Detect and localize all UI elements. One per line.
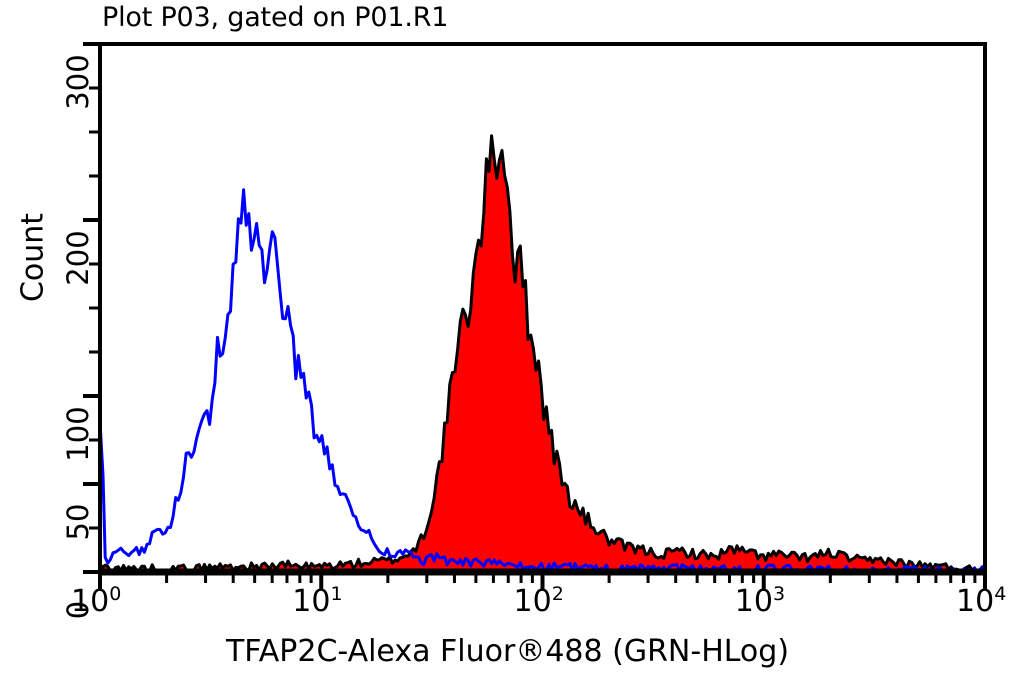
- x-tick-base: 10: [514, 584, 552, 619]
- x-tick-exponent: 3: [773, 583, 785, 605]
- y-tick-label: 300: [61, 43, 95, 121]
- x-tick-label: 101: [292, 584, 342, 619]
- x-tick-exponent: 1: [330, 583, 342, 605]
- x-tick-label: 100: [71, 584, 121, 619]
- x-tick-base: 10: [956, 584, 994, 619]
- flow-cytometry-figure: Plot P03, gated on P01.R1 Proteintech 14…: [0, 0, 1015, 683]
- y-tick-label: 100: [61, 395, 95, 473]
- x-tick-base: 10: [735, 584, 773, 619]
- x-tick-exponent: 4: [994, 583, 1006, 605]
- x-tick-label: 103: [735, 584, 785, 619]
- x-tick-base: 10: [71, 584, 109, 619]
- x-tick-base: 10: [292, 584, 330, 619]
- y-tick-label: 200: [61, 219, 95, 297]
- x-tick-exponent: 2: [552, 583, 564, 605]
- histogram-plot: [0, 0, 1015, 683]
- x-tick-exponent: 0: [109, 583, 121, 605]
- y-tick-label: 50: [61, 483, 95, 561]
- x-tick-label: 102: [514, 584, 564, 619]
- x-tick-label: 104: [956, 584, 1006, 619]
